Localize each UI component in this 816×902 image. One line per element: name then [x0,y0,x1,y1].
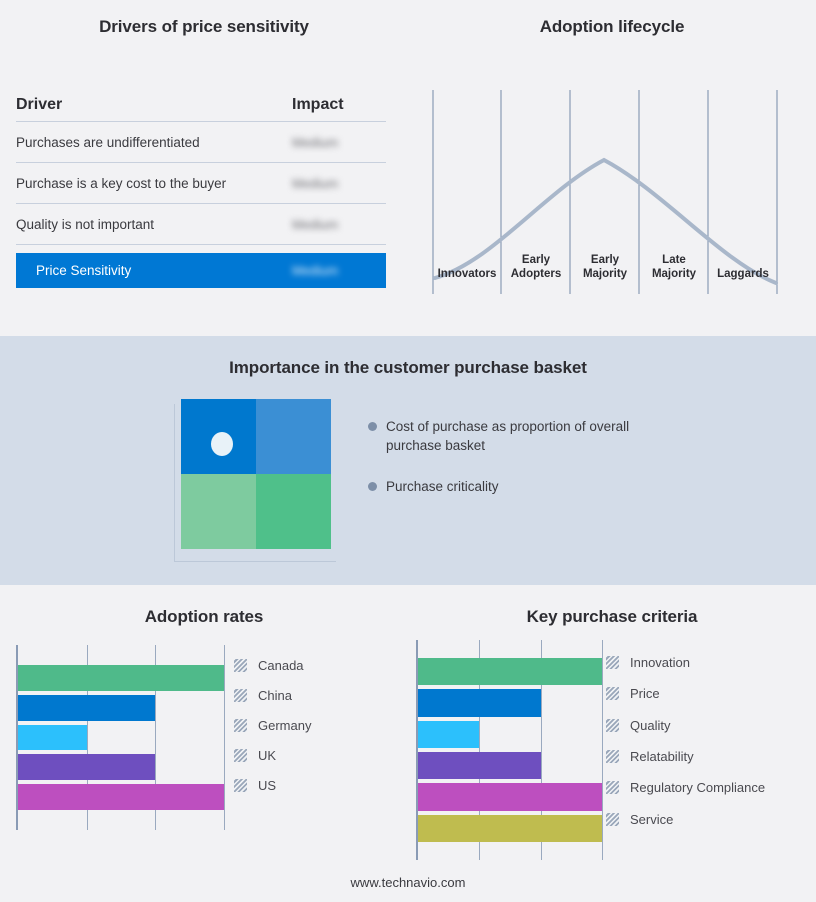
criteria-plot-area [416,640,600,860]
drivers-of-price-sensitivity-panel: Drivers of price sensitivity Driver Impa… [0,0,408,336]
matrix-position-marker-dot [211,432,233,456]
adoption-rates-legend: CanadaChinaGermanyUKUS [234,651,311,800]
legend-label: Innovation [630,655,690,670]
chart-bar-price[interactable] [418,689,541,716]
chart-bar-uk[interactable] [18,754,155,780]
legend-label: UK [258,748,276,763]
adoption-lifecycle-panel: Adoption lifecycle Innovators Early Adop… [408,0,816,336]
matrix-quadrant-top-right[interactable] [256,399,331,474]
hatched-swatch-icon [606,750,619,763]
chart-bar-relatability[interactable] [418,752,541,779]
adoption-plot-area [16,645,222,830]
legend-item[interactable]: Innovation [606,647,765,678]
stage-label-early-majority: Early Majority [570,254,640,281]
hatched-swatch-icon [606,781,619,794]
column-header-driver: Driver [16,96,286,114]
lifecycle-panel-title: Adoption lifecycle [408,17,816,37]
hatched-swatch-icon [606,719,619,732]
hatched-swatch-icon [234,689,247,702]
chart-gridline [224,645,225,830]
chart-bar-us[interactable] [18,784,224,810]
table-row[interactable]: Purchases are undifferentiated Medium [16,122,386,163]
table-row[interactable]: Purchase is a key cost to the buyer Medi… [16,163,386,204]
chart-bar-service[interactable] [418,815,602,842]
legend-item[interactable]: Quality [606,710,765,741]
key-purchase-criteria-legend: InnovationPriceQualityRelatabilityRegula… [606,647,765,835]
legend-label: US [258,778,276,793]
stage-label-early-adopters: Early Adopters [501,254,571,281]
hatched-swatch-icon [234,749,247,762]
chart-bar-regulatory-compliance[interactable] [418,783,602,810]
matrix-quadrant-top-left[interactable] [181,399,256,474]
legend-item[interactable]: Germany [234,711,311,741]
hatched-swatch-icon [234,719,247,732]
lifecycle-chart: Innovators Early Adopters Early Majority… [432,72,792,312]
legend-item[interactable]: UK [234,740,311,770]
legend-label: Relatability [630,749,694,764]
driver-name: Quality is not important [16,217,286,232]
chart-gridline [602,640,603,860]
driver-impact-value: Medium [286,176,386,191]
legend-label: Quality [630,718,670,733]
legend-label: Service [630,812,673,827]
summary-impact-value: Medium [286,263,386,278]
adoption-rates-panel: Adoption rates CanadaChinaGermanyUKUS [0,585,408,902]
legend-item: Cost of purchase as proportion of overal… [368,417,668,455]
matrix-quadrant-bottom-left[interactable] [181,474,256,549]
legend-dot-icon [368,422,377,431]
criteria-panel-title: Key purchase criteria [408,607,816,627]
legend-label: Regulatory Compliance [630,780,765,795]
stage-label-late-majority: Late Majority [639,254,709,281]
legend-label: Germany [258,718,311,733]
basket-panel-title: Importance in the customer purchase bask… [0,358,816,378]
price-sensitivity-summary-row[interactable]: Price Sensitivity Medium [16,253,386,288]
basket-legend: Cost of purchase as proportion of overal… [368,417,668,518]
drivers-table: Driver Impact Purchases are undifferenti… [16,88,386,288]
chart-bar-china[interactable] [18,695,155,721]
chart-bar-innovation[interactable] [418,658,602,685]
matrix-quadrant-bottom-right[interactable] [256,474,331,549]
driver-impact-value: Medium [286,217,386,232]
legend-label: China [258,688,292,703]
legend-item[interactable]: Relatability [606,741,765,772]
footer-url[interactable]: www.technavio.com [0,875,816,890]
adoption-panel-title: Adoption rates [0,607,408,627]
legend-dot-icon [368,482,377,491]
legend-item[interactable]: Canada [234,651,311,681]
table-header-row: Driver Impact [16,88,386,122]
lifecycle-stage-labels: Innovators Early Adopters Early Majority… [432,72,792,312]
legend-item[interactable]: China [234,681,311,711]
table-row[interactable]: Quality is not important Medium [16,204,386,245]
chart-bar-quality[interactable] [418,721,479,748]
chart-bar-canada[interactable] [18,665,224,691]
adoption-rates-chart [16,645,226,830]
legend-label: Purchase criticality [386,477,499,496]
hatched-swatch-icon [606,687,619,700]
stage-label-innovators: Innovators [432,268,502,282]
key-purchase-criteria-panel: Key purchase criteria InnovationPriceQua… [408,585,816,902]
summary-label: Price Sensitivity [36,263,286,278]
legend-item: Purchase criticality [368,477,668,496]
purchase-basket-matrix [181,399,331,549]
stage-label-laggards: Laggards [708,268,778,282]
legend-label: Price [630,686,660,701]
legend-label: Cost of purchase as proportion of overal… [386,417,668,455]
legend-item[interactable]: US [234,770,311,800]
legend-label: Canada [258,658,304,673]
hatched-swatch-icon [234,659,247,672]
driver-name: Purchases are undifferentiated [16,135,286,150]
hatched-swatch-icon [606,813,619,826]
legend-item[interactable]: Regulatory Compliance [606,772,765,803]
hatched-swatch-icon [234,779,247,792]
column-header-impact: Impact [286,96,386,114]
legend-item[interactable]: Service [606,804,765,835]
driver-impact-value: Medium [286,135,386,150]
driver-name: Purchase is a key cost to the buyer [16,176,286,191]
hatched-swatch-icon [606,656,619,669]
legend-item[interactable]: Price [606,678,765,709]
drivers-panel-title: Drivers of price sensitivity [0,17,408,37]
chart-bar-germany[interactable] [18,725,87,751]
key-purchase-criteria-chart [416,640,606,860]
